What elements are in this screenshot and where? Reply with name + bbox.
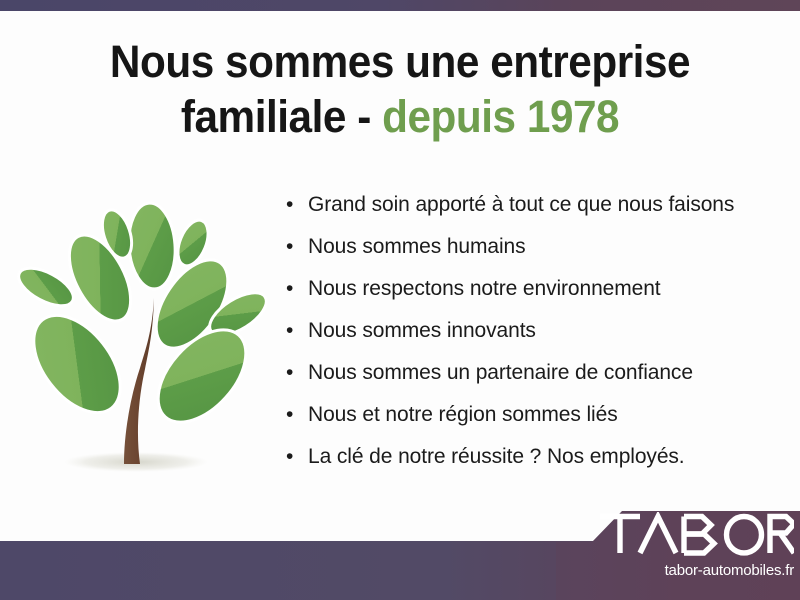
bullet-marker-icon: • — [284, 234, 308, 259]
list-item: • Nous sommes humains — [284, 234, 784, 276]
tree-leaf — [126, 202, 178, 291]
tree-illustration — [12, 186, 270, 486]
bullet-marker-icon: • — [284, 360, 308, 385]
tabor-logo[interactable] — [598, 512, 794, 556]
bullet-marker-icon: • — [284, 402, 308, 427]
value-bullet-list: • Grand soin apporté à tout ce que nous … — [284, 192, 784, 486]
list-item: • Nous sommes innovants — [284, 318, 784, 360]
logo-website-label[interactable]: tabor-automobiles.fr — [598, 562, 794, 579]
slide-canvas: Nous sommes une entreprise familiale - d… — [0, 0, 800, 600]
list-item-label: Nous sommes innovants — [308, 318, 536, 343]
page-title: Nous sommes une entreprise familiale - d… — [62, 34, 739, 144]
list-item-label: Nous sommes humains — [308, 234, 526, 259]
headline-line-2-plain: familiale - — [181, 91, 382, 142]
headline-line-1: Nous sommes une entreprise — [110, 36, 690, 87]
bullet-marker-icon: • — [284, 444, 308, 469]
list-item: • La clé de notre réussite ? Nos employé… — [284, 444, 784, 486]
list-item-label: Nous respectons notre environnement — [308, 276, 661, 301]
list-item: • Grand soin apporté à tout ce que nous … — [284, 192, 784, 234]
tree-trunk — [124, 298, 154, 464]
list-item-label: Grand soin apporté à tout ce que nous fa… — [308, 192, 734, 217]
list-item: • Nous respectons notre environnement — [284, 276, 784, 318]
bullet-marker-icon: • — [284, 276, 308, 301]
list-item: • Nous et notre région sommes liés — [284, 402, 784, 444]
top-accent-band — [0, 0, 800, 11]
list-item: • Nous sommes un partenaire de confiance — [284, 360, 784, 402]
bullet-marker-icon: • — [284, 192, 308, 217]
list-item-label: Nous sommes un partenaire de confiance — [308, 360, 693, 385]
list-item-label: La clé de notre réussite ? Nos employés. — [308, 444, 685, 469]
headline-line-2-accent: depuis 1978 — [382, 91, 619, 142]
tree-leaf — [13, 261, 79, 314]
bullet-marker-icon: • — [284, 318, 308, 343]
list-item-label: Nous et notre région sommes liés — [308, 402, 618, 427]
